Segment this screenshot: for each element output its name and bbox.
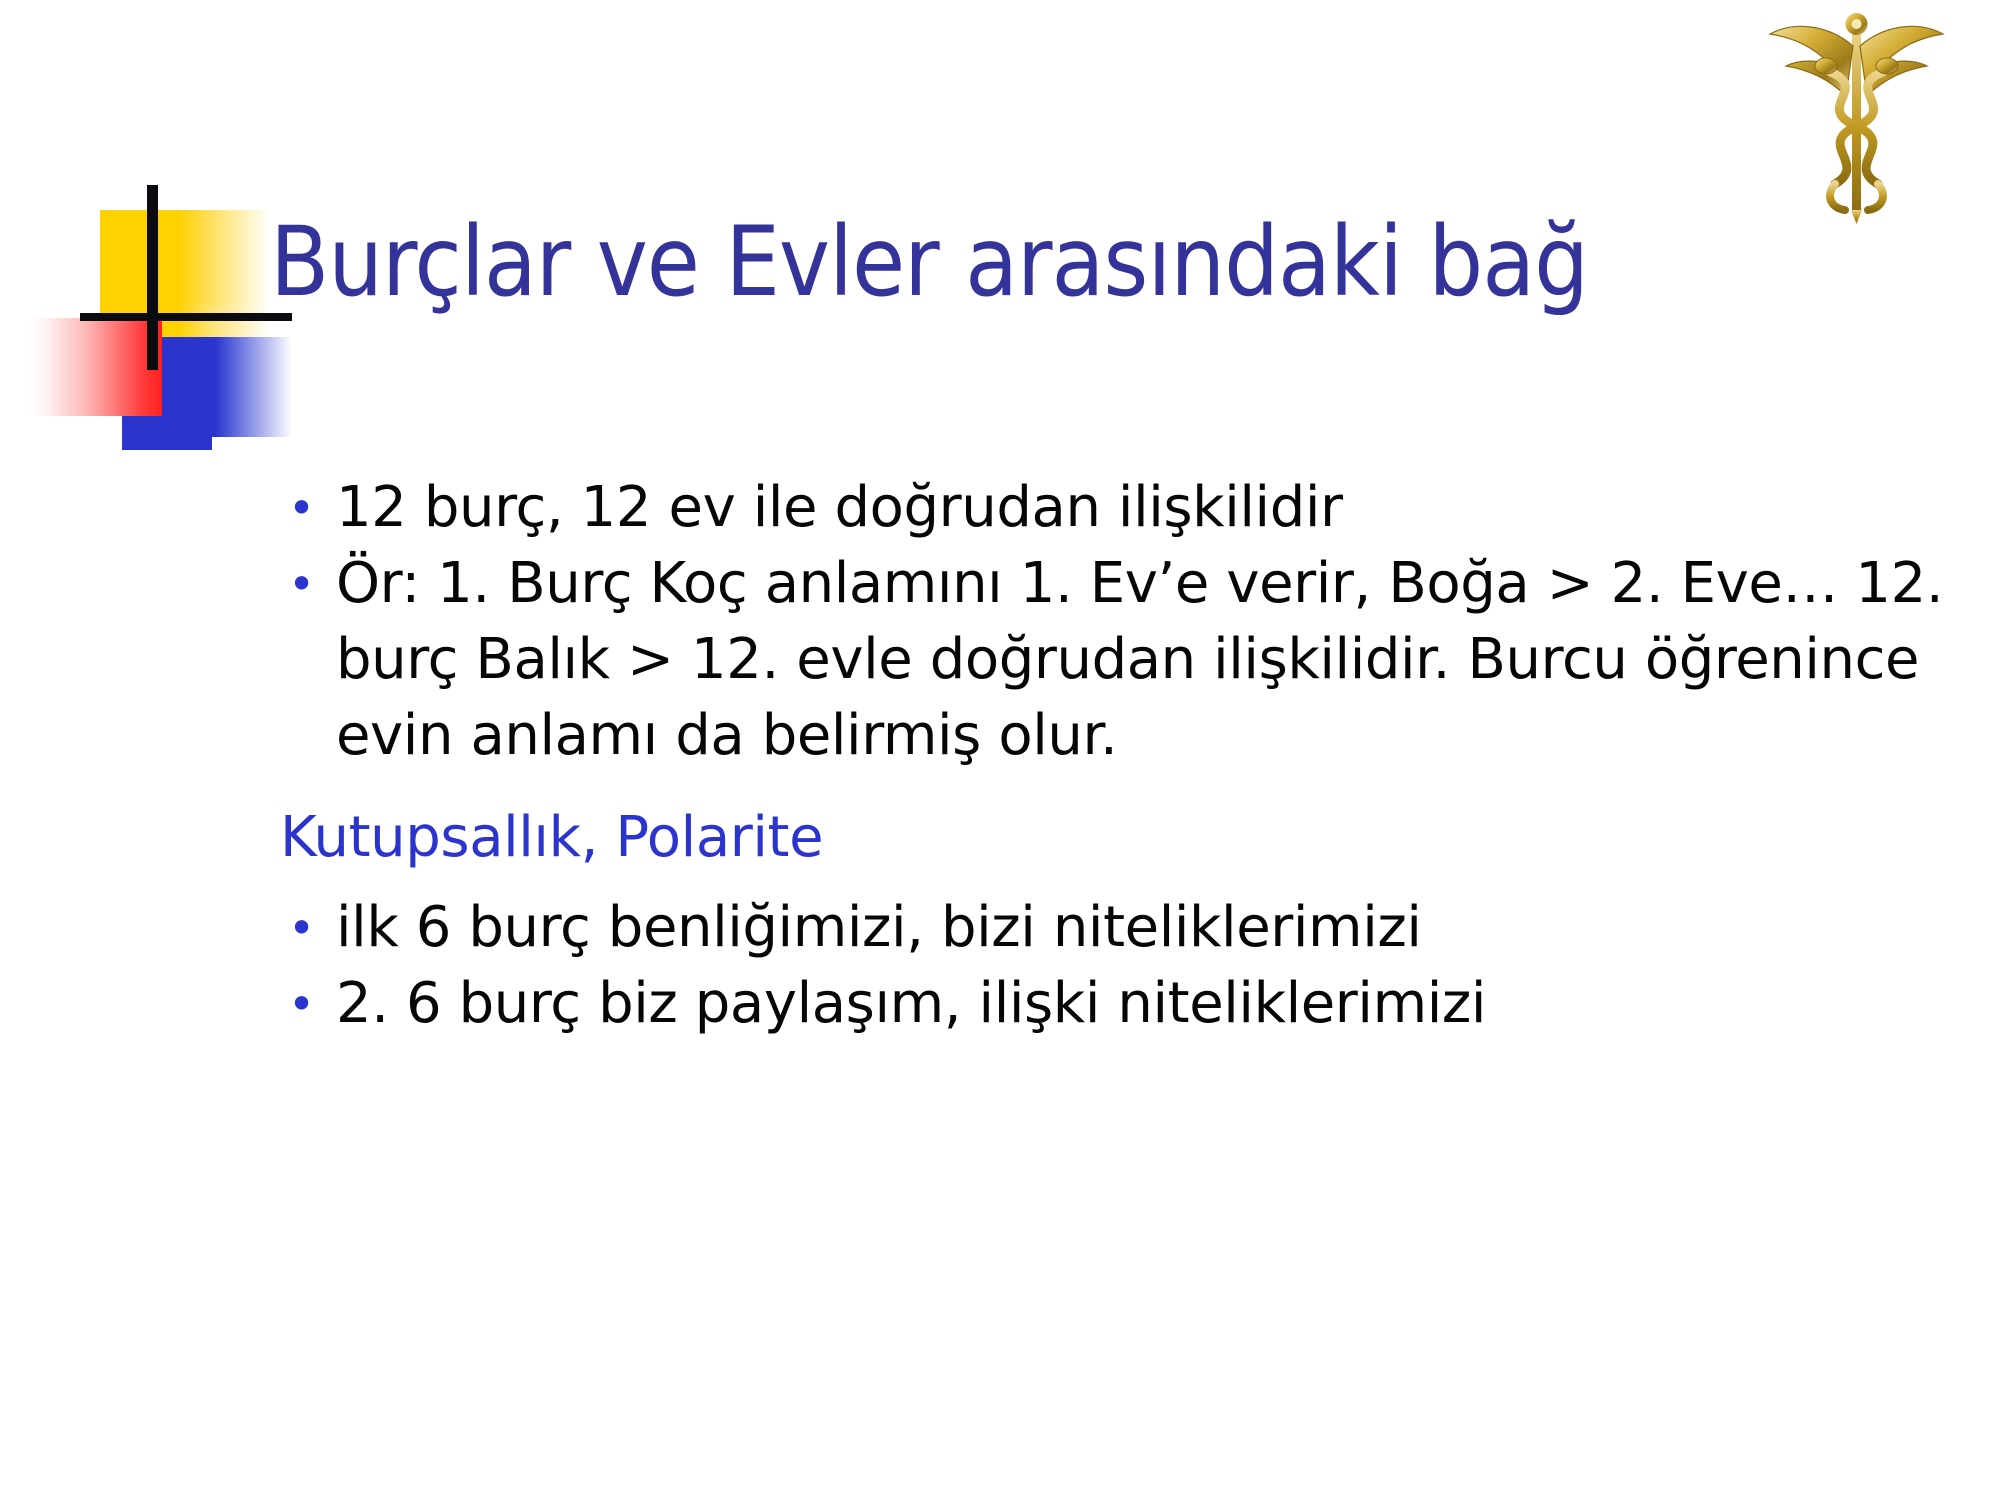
color-blocks-motif: [22, 185, 292, 435]
list-item: • Ör: 1. Burç Koç anlamını 1. Ev’e verir…: [280, 546, 1970, 774]
section-heading: Kutupsallık, Polarite: [280, 800, 1970, 876]
list-item-text: 12 burç, 12 ev ile doğrudan ilişkilidir: [336, 470, 1970, 546]
page-title: Burçlar ve Evler arasındaki bağ: [270, 214, 1970, 310]
bullet-point-icon: •: [280, 470, 336, 546]
bullet-point-icon: •: [280, 966, 336, 1042]
bullet-point-icon: •: [280, 546, 336, 622]
bullet-point-icon: •: [280, 890, 336, 966]
slide-body: • 12 burç, 12 ev ile doğrudan ilişkilidi…: [280, 470, 1970, 1042]
list-item-text: ilk 6 burç benliğimizi, bizi nitelikleri…: [336, 890, 1970, 966]
red-rectangle-icon: [30, 318, 162, 416]
list-item: • ilk 6 burç benliğimizi, bizi nitelikle…: [280, 890, 1970, 966]
list-item: • 12 burç, 12 ev ile doğrudan ilişkilidi…: [280, 470, 1970, 546]
yellow-square-icon: [100, 210, 270, 305]
list-item: • 2. 6 burç biz paylaşım, ilişki nitelik…: [280, 966, 1970, 1042]
vertical-rule-icon: [147, 185, 158, 370]
list-item-text: 2. 6 burç biz paylaşım, ilişki nitelikle…: [336, 966, 1970, 1042]
caduceus-icon: [1752, 4, 1962, 224]
blue-square-lower-icon: [122, 410, 212, 450]
horizontal-rule-icon: [80, 313, 292, 321]
list-item-text: Ör: 1. Burç Koç anlamını 1. Ev’e verir, …: [336, 546, 1970, 774]
